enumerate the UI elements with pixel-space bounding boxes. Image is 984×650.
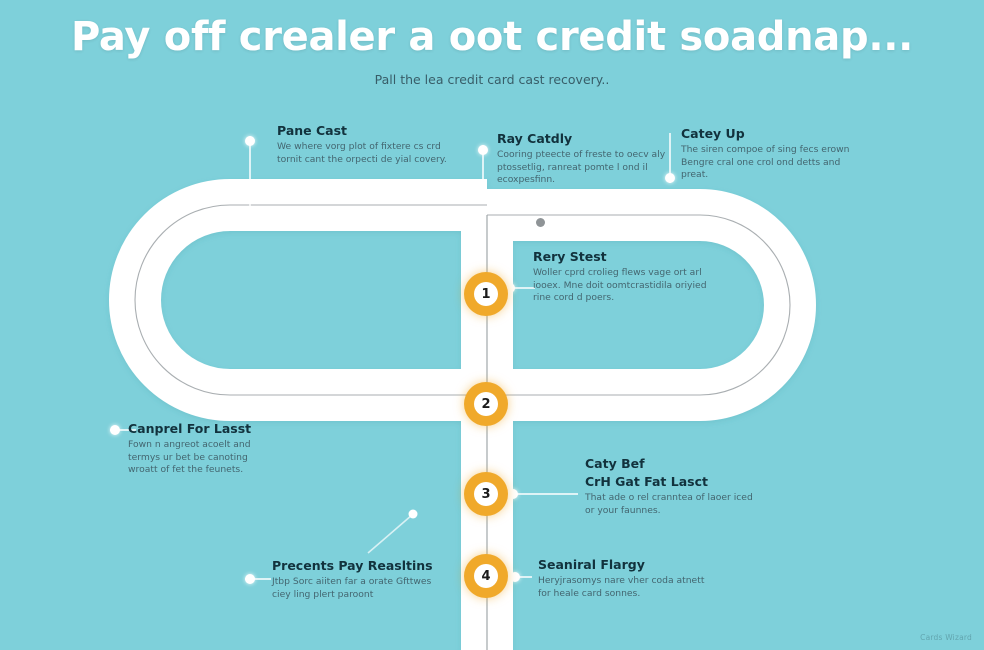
callout-heading: Rery Stest	[533, 249, 708, 264]
pin-stem	[508, 493, 578, 495]
road-path-graphic	[0, 0, 984, 650]
pin-knob	[510, 572, 520, 582]
callout-heading: Ray Catdly	[497, 131, 672, 146]
step-marker-label: 1	[474, 282, 498, 306]
pin-knob	[245, 574, 255, 584]
callout-rery-stest: Rery Stest Woller cprd crolieg flews vag…	[533, 249, 708, 305]
pin-knob	[508, 489, 518, 499]
step-marker-label: 2	[474, 392, 498, 416]
step-marker-4[interactable]: 4	[464, 554, 508, 598]
callout-body: Woller cprd crolieg flews vage ort arl i…	[533, 267, 708, 305]
callout-ray-catdly: Ray Catdly Cooring pteecte of freste to …	[497, 131, 672, 187]
infographic-canvas: Pay off crealer a oot credit soadnap... …	[0, 0, 984, 650]
callout-pane-cast: Pane Cast We where vorg plot of fixtere …	[277, 123, 452, 166]
callout-seaniral-flargy: Seaniral Flargy Heryjrasomys nare vher c…	[538, 557, 713, 600]
callout-heading: Seaniral Flargy	[538, 557, 713, 572]
callout-body: Heryjrasomys nare vher coda atnett for h…	[538, 575, 713, 600]
callout-heading: Caty Bef	[585, 456, 760, 471]
pin-stem	[249, 136, 251, 208]
callout-heading-line2: CrH Gat Fat Lasct	[585, 474, 760, 489]
callout-canprel-for-lasst: Canprel For Lasst Fown n angreot acoelt …	[128, 421, 268, 477]
callout-body: Cooring pteecte of freste to oecv aly pt…	[497, 149, 672, 187]
step-marker-3[interactable]: 3	[464, 472, 508, 516]
callout-heading: Precents Pay Reasltins	[272, 558, 447, 573]
step-marker-2[interactable]: 2	[464, 382, 508, 426]
pin-knob	[245, 136, 255, 146]
callout-heading: Catey Up	[681, 126, 856, 141]
pin-knob	[110, 425, 120, 435]
callout-body: The siren compoe of sing fecs erown Beng…	[681, 144, 856, 182]
callout-catey-up: Catey Up The siren compoe of sing fecs e…	[681, 126, 856, 182]
step-marker-label: 3	[474, 482, 498, 506]
step-marker-1[interactable]: 1	[464, 272, 508, 316]
callout-heading: Pane Cast	[277, 123, 452, 138]
callout-precents-pay-reasltins: Precents Pay Reasltins Jtbp Sorc aiiten …	[272, 558, 447, 601]
callout-body: Jtbp Sorc aiiten far a orate Gfttwes cie…	[272, 576, 447, 601]
callout-body: That ade o rel cranntea of laoer iced or…	[585, 492, 760, 517]
callout-body: Fown n angreot acoelt and termys ur bet …	[128, 439, 268, 477]
pin-knob	[478, 145, 488, 155]
loop-origin-dot	[536, 218, 545, 227]
callout-caty-bef: Caty Bef CrH Gat Fat Lasct That ade o re…	[585, 456, 760, 517]
callout-heading: Canprel For Lasst	[128, 421, 268, 436]
step-marker-label: 4	[474, 564, 498, 588]
callout-body: We where vorg plot of fixtere cs crd tor…	[277, 141, 452, 166]
watermark: Cards Wizard	[920, 633, 972, 642]
